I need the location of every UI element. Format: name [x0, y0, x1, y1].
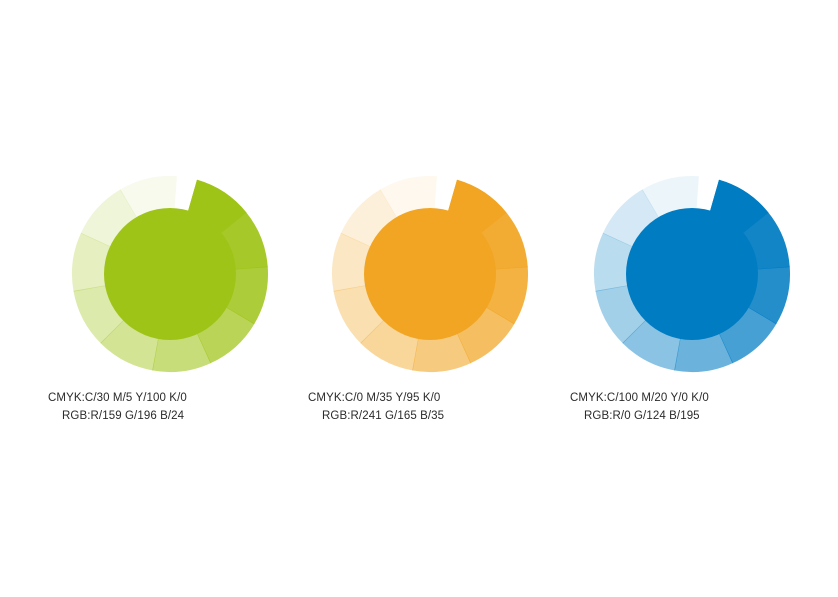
cmyk-value-label: CMYK:C/30 M/5 Y/100 K/0 — [40, 390, 300, 408]
tint-ring-green — [40, 144, 300, 404]
color-caption-blue: CMYK:C/100 M/20 Y/0 K/0RGB:R/0 G/124 B/1… — [562, 390, 822, 425]
color-wheel-orange — [300, 144, 560, 404]
cmyk-value-label: CMYK:C/0 M/35 Y/95 K/0 — [300, 390, 560, 408]
rgb-value-label: RGB:R/241 G/165 B/35 — [300, 408, 560, 426]
tint-ring-orange — [300, 144, 560, 404]
rgb-value-label: RGB:R/159 G/196 B/24 — [40, 408, 300, 426]
cmyk-value-label: CMYK:C/100 M/20 Y/0 K/0 — [562, 390, 822, 408]
rgb-value-label: RGB:R/0 G/124 B/195 — [562, 408, 822, 426]
color-swatch-blue: CMYK:C/100 M/20 Y/0 K/0RGB:R/0 G/124 B/1… — [562, 0, 822, 597]
color-caption-orange: CMYK:C/0 M/35 Y/95 K/0RGB:R/241 G/165 B/… — [300, 390, 560, 425]
color-swatch-orange: CMYK:C/0 M/35 Y/95 K/0RGB:R/241 G/165 B/… — [300, 0, 560, 597]
tint-ring-blue — [562, 144, 822, 404]
color-swatch-green: CMYK:C/30 M/5 Y/100 K/0RGB:R/159 G/196 B… — [40, 0, 300, 597]
color-wheel-blue — [562, 144, 822, 404]
color-swatch-board: CMYK:C/30 M/5 Y/100 K/0RGB:R/159 G/196 B… — [0, 0, 838, 597]
color-caption-green: CMYK:C/30 M/5 Y/100 K/0RGB:R/159 G/196 B… — [40, 390, 300, 425]
color-wheel-green — [40, 144, 300, 404]
